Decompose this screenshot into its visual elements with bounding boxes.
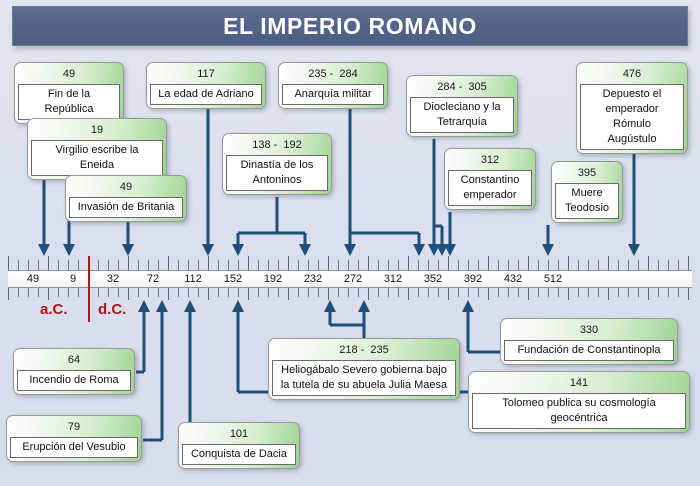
event-year: 395 <box>555 165 619 183</box>
ruler-tick-label: 192 <box>253 272 293 287</box>
era-label-bc: a.C. <box>40 300 68 320</box>
event-year: 138 - 192 <box>226 137 328 155</box>
event-box[interactable]: 117La edad de Adriano <box>146 62 266 109</box>
timeline-arrow-down <box>344 244 356 256</box>
ruler-tick-label: 272 <box>333 272 373 287</box>
event-box[interactable]: 49Fin de la República <box>14 62 124 124</box>
page-title-bar: EL IMPERIO ROMANO <box>12 6 688 46</box>
ruler-minor-tick <box>308 260 309 270</box>
ruler-minor-tick <box>268 260 269 270</box>
ruler-minor-tick <box>198 260 199 270</box>
ruler-minor-tick <box>668 288 669 297</box>
ruler-minor-tick <box>178 260 179 270</box>
ruler-minor-tick <box>558 260 559 270</box>
ruler-tick-label: 9 <box>53 272 93 287</box>
ruler-minor-tick <box>628 260 629 270</box>
ruler-tick-label: 392 <box>453 272 493 287</box>
ruler-minor-tick <box>318 260 319 270</box>
ruler-minor-tick <box>628 288 629 297</box>
ruler-minor-tick <box>158 288 159 297</box>
ruler-major-tick <box>408 256 409 270</box>
event-year: 235 - 284 <box>282 66 384 84</box>
ruler-minor-tick <box>68 260 69 270</box>
ruler-minor-tick <box>178 288 179 297</box>
ruler-minor-tick <box>138 288 139 297</box>
ruler-minor-tick <box>68 288 69 297</box>
ruler-minor-tick <box>618 260 619 270</box>
timeline-arrow-down <box>232 244 244 256</box>
timeline-arrow-down <box>413 244 425 256</box>
ruler-minor-tick <box>578 288 579 297</box>
ruler-major-tick <box>128 288 129 300</box>
ruler-minor-tick <box>548 288 549 297</box>
ruler-minor-tick <box>678 260 679 270</box>
ruler-minor-tick <box>238 260 239 270</box>
event-year: 141 <box>472 375 686 393</box>
ruler-minor-tick <box>378 260 379 270</box>
timeline-arrow-up <box>462 300 474 312</box>
ruler-major-tick <box>488 288 489 300</box>
event-box[interactable]: 19Virgilio escribe la Eneida <box>27 118 167 180</box>
event-label: Incendio de Roma <box>17 370 131 391</box>
ruler-major-tick <box>648 256 649 270</box>
ruler-major-tick <box>528 256 529 270</box>
ruler-minor-tick <box>28 260 29 270</box>
ruler-major-tick <box>48 256 49 270</box>
event-year: 49 <box>18 66 120 84</box>
ruler-minor-tick <box>518 260 519 270</box>
ruler-minor-tick <box>78 288 79 297</box>
event-box[interactable]: 79Erupción del Vesubio <box>6 415 142 462</box>
ruler-minor-tick <box>618 288 619 297</box>
ruler-major-tick <box>408 288 409 300</box>
ruler-tick-label: 432 <box>493 272 533 287</box>
ruler-minor-tick <box>418 260 419 270</box>
event-year: 312 <box>448 152 532 170</box>
ruler-minor-tick <box>278 288 279 297</box>
event-box[interactable]: 395MuereTeodosio <box>551 161 623 223</box>
era-boundary-divider <box>88 300 90 322</box>
ruler-minor-tick <box>508 260 509 270</box>
ruler-minor-tick <box>308 288 309 297</box>
ruler-major-tick <box>8 288 9 300</box>
ruler-major-tick <box>328 288 329 300</box>
ruler-tick-label: 112 <box>173 272 213 287</box>
ruler-minor-tick <box>498 288 499 297</box>
era-boundary-line <box>88 256 90 300</box>
ruler-minor-tick <box>188 288 189 297</box>
ruler-minor-tick <box>438 260 439 270</box>
ruler-minor-tick <box>158 260 159 270</box>
ruler-minor-tick <box>468 260 469 270</box>
ruler-minor-tick <box>198 288 199 297</box>
ruler-minor-tick <box>78 260 79 270</box>
ruler-minor-tick <box>278 260 279 270</box>
ruler-major-tick <box>528 288 529 300</box>
ruler-minor-tick <box>538 288 539 297</box>
ruler-minor-tick <box>678 288 679 297</box>
ruler-minor-tick <box>58 288 59 297</box>
ruler-minor-tick <box>548 260 549 270</box>
event-year: 79 <box>10 419 138 437</box>
ruler-major-tick <box>128 256 129 270</box>
event-label: MuereTeodosio <box>555 183 619 219</box>
timeline-arrow-down <box>299 244 311 256</box>
ruler-major-tick <box>288 288 289 300</box>
era-label-ad: d.C. <box>98 300 126 320</box>
ruler-minor-tick <box>148 288 149 297</box>
event-label: Anarquía militar <box>282 84 384 105</box>
ruler-minor-tick <box>58 260 59 270</box>
ruler-minor-tick <box>458 288 459 297</box>
ruler-minor-tick <box>378 288 379 297</box>
ruler-minor-tick <box>538 260 539 270</box>
ruler-major-tick <box>168 288 169 300</box>
ruler-major-tick <box>8 256 9 270</box>
event-label: Fin de la República <box>18 84 120 120</box>
ruler-minor-tick <box>498 260 499 270</box>
event-label: Constantinoemperador <box>448 170 532 206</box>
ruler-minor-tick <box>298 260 299 270</box>
event-label: Virgilio escribe la Eneida <box>31 140 163 176</box>
ruler-major-tick <box>48 288 49 300</box>
timeline-arrow-down <box>38 244 50 256</box>
ruler-major-tick <box>488 256 489 270</box>
ruler-minor-tick <box>398 260 399 270</box>
ruler-minor-tick <box>98 288 99 297</box>
event-label: La edad de Adriano <box>150 84 262 105</box>
ruler-minor-tick <box>428 288 429 297</box>
ruler-tick-label: 49 <box>13 272 53 287</box>
event-year: 330 <box>504 322 674 340</box>
ruler-major-tick <box>568 288 569 300</box>
ruler-minor-tick <box>428 260 429 270</box>
timeline-arrow-up <box>184 300 196 312</box>
ruler-major-tick <box>208 256 209 270</box>
ruler-minor-tick <box>598 288 599 297</box>
timeline-arrow-down <box>63 244 75 256</box>
ruler-minor-tick <box>478 260 479 270</box>
timeline-arrow-up <box>232 300 244 312</box>
event-label: Conquista de Dacia <box>182 444 296 465</box>
event-year: 218 - 235 <box>272 342 456 360</box>
timeline-ruler: 4993272112152192232272312352392432512a.C… <box>8 256 692 300</box>
ruler-minor-tick <box>578 260 579 270</box>
event-year: 284 - 305 <box>410 79 514 97</box>
timeline-arrow-down <box>428 244 440 256</box>
ruler-major-tick <box>688 288 689 300</box>
timeline-arrow-down <box>436 244 448 256</box>
ruler-major-tick <box>248 288 249 300</box>
ruler-tick-label: 232 <box>293 272 333 287</box>
ruler-minor-tick <box>388 288 389 297</box>
ruler-tick-label: 512 <box>533 272 573 287</box>
ruler-minor-tick <box>598 260 599 270</box>
ruler-minor-tick <box>478 288 479 297</box>
event-box[interactable]: 235 - 284Anarquía militar <box>278 62 388 109</box>
event-label: Fundación de Constantinopla <box>504 340 674 361</box>
timeline-arrow-down <box>542 244 554 256</box>
ruler-major-tick <box>368 288 369 300</box>
event-box[interactable]: 138 - 192Dinastía de losAntoninos <box>222 133 332 195</box>
ruler-minor-tick <box>118 288 119 297</box>
ruler-major-tick <box>568 256 569 270</box>
event-label: Dinastía de losAntoninos <box>226 155 328 191</box>
ruler-minor-tick <box>258 260 259 270</box>
ruler-minor-tick <box>228 288 229 297</box>
ruler-minor-tick <box>358 260 359 270</box>
ruler-tick-label: 312 <box>373 272 413 287</box>
ruler-minor-tick <box>108 288 109 297</box>
ruler-tick-label: 72 <box>133 272 173 287</box>
ruler-minor-tick <box>18 260 19 270</box>
ruler-minor-tick <box>658 260 659 270</box>
event-year: 49 <box>69 179 183 197</box>
ruler-major-tick <box>688 256 689 270</box>
ruler-minor-tick <box>268 288 269 297</box>
timeline-arrow-up <box>358 300 370 312</box>
ruler-major-tick <box>168 256 169 270</box>
event-year: 476 <box>580 66 684 84</box>
ruler-minor-tick <box>668 260 669 270</box>
event-label: Depuesto elemperador RómuloAugústulo <box>580 84 684 150</box>
event-year: 117 <box>150 66 262 84</box>
ruler-minor-tick <box>218 260 219 270</box>
event-year: 64 <box>17 352 131 370</box>
ruler-minor-tick <box>18 288 19 297</box>
event-box[interactable]: 284 - 305Diocleciano y laTetrarquía <box>406 75 518 137</box>
ruler-tick-label: 152 <box>213 272 253 287</box>
event-label: Invasión de Britania <box>69 197 183 218</box>
ruler-minor-tick <box>138 260 139 270</box>
ruler-major-tick <box>368 256 369 270</box>
ruler-minor-tick <box>558 288 559 297</box>
ruler-minor-tick <box>358 288 359 297</box>
ruler-minor-tick <box>418 288 419 297</box>
timeline-arrow-down <box>628 244 640 256</box>
ruler-minor-tick <box>338 288 339 297</box>
event-box[interactable]: 101Conquista de Dacia <box>178 422 300 469</box>
timeline-arrow-up <box>138 300 150 312</box>
event-label: Heliogábalo Severo gobierna bajola tutel… <box>272 360 456 396</box>
event-box[interactable]: 141Tolomeo publica su cosmología geocént… <box>468 371 690 433</box>
event-year: 19 <box>31 122 163 140</box>
ruler-major-tick <box>648 288 649 300</box>
event-label: Erupción del Vesubio <box>10 437 138 458</box>
ruler-minor-tick <box>118 260 119 270</box>
ruler-minor-tick <box>348 260 349 270</box>
ruler-minor-tick <box>228 260 229 270</box>
ruler-minor-tick <box>588 288 589 297</box>
ruler-minor-tick <box>388 260 389 270</box>
page-title: EL IMPERIO ROMANO <box>223 13 477 40</box>
ruler-minor-tick <box>188 260 189 270</box>
timeline-arrow-up <box>324 300 336 312</box>
infographic-root: EL IMPERIO ROMANO 49Fin de la República1… <box>0 0 700 486</box>
ruler-minor-tick <box>638 288 639 297</box>
ruler-minor-tick <box>398 288 399 297</box>
ruler-minor-tick <box>38 260 39 270</box>
event-box[interactable]: 64Incendio de Roma <box>13 348 135 395</box>
ruler-minor-tick <box>348 288 349 297</box>
ruler-minor-tick <box>148 260 149 270</box>
ruler-minor-tick <box>468 288 469 297</box>
ruler-minor-tick <box>588 260 589 270</box>
timeline-arrow-up <box>156 300 168 312</box>
ruler-major-tick <box>288 256 289 270</box>
ruler-major-tick <box>608 256 609 270</box>
event-box[interactable]: 312Constantinoemperador <box>444 148 536 210</box>
ruler-tick-label: 32 <box>93 272 133 287</box>
ruler-minor-tick <box>238 288 239 297</box>
timeline-arrow-down <box>444 244 456 256</box>
timeline-arrow-down <box>202 244 214 256</box>
event-box[interactable]: 218 - 235Heliogábalo Severo gobierna baj… <box>268 338 460 400</box>
event-box[interactable]: 476Depuesto elemperador RómuloAugústulo <box>576 62 688 154</box>
ruler-major-tick <box>248 256 249 270</box>
ruler-major-tick <box>448 288 449 300</box>
ruler-minor-tick <box>508 288 509 297</box>
ruler-minor-tick <box>338 260 339 270</box>
ruler-minor-tick <box>28 288 29 297</box>
event-box[interactable]: 49Invasión de Britania <box>65 175 187 222</box>
ruler-major-tick <box>208 288 209 300</box>
ruler-minor-tick <box>98 260 99 270</box>
ruler-minor-tick <box>108 260 109 270</box>
ruler-major-tick <box>608 288 609 300</box>
ruler-tick-label: 352 <box>413 272 453 287</box>
ruler-minor-tick <box>438 288 439 297</box>
ruler-minor-tick <box>298 288 299 297</box>
event-label: Tolomeo publica su cosmología geocéntric… <box>472 393 686 429</box>
ruler-minor-tick <box>658 288 659 297</box>
timeline-arrow-down <box>122 244 134 256</box>
ruler-major-tick <box>448 256 449 270</box>
ruler-minor-tick <box>458 260 459 270</box>
ruler-minor-tick <box>218 288 219 297</box>
ruler-minor-tick <box>318 288 319 297</box>
ruler-minor-tick <box>38 288 39 297</box>
event-box[interactable]: 330Fundación de Constantinopla <box>500 318 678 365</box>
ruler-major-tick <box>328 256 329 270</box>
ruler-minor-tick <box>518 288 519 297</box>
event-year: 101 <box>182 426 296 444</box>
ruler-minor-tick <box>258 288 259 297</box>
ruler-minor-tick <box>638 260 639 270</box>
event-label: Diocleciano y laTetrarquía <box>410 97 514 133</box>
